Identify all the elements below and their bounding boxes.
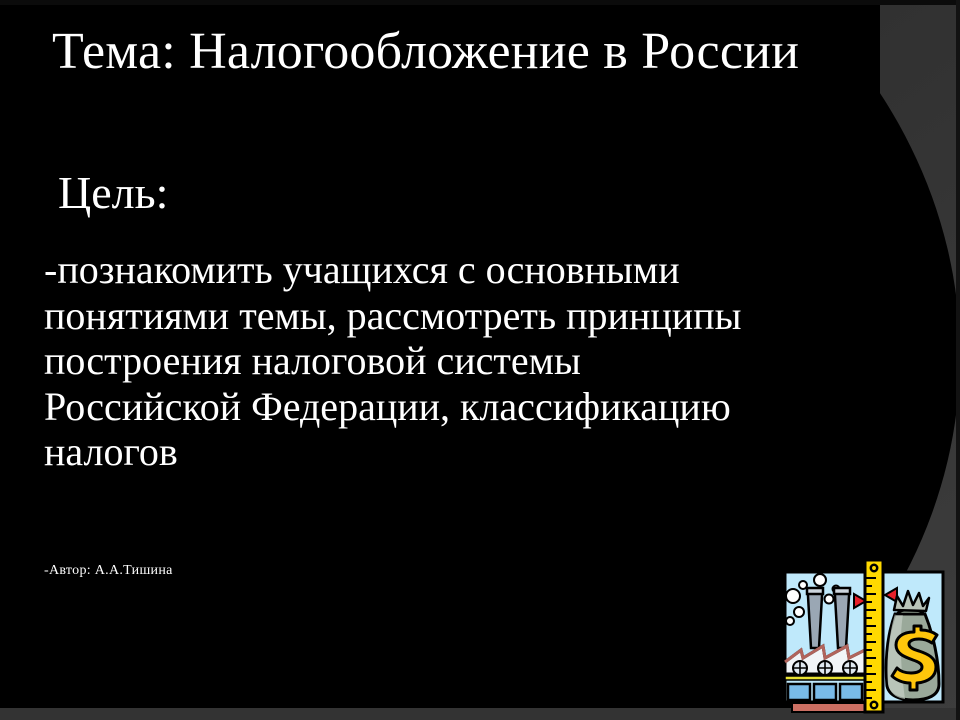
presentation-slide: Тема: Налогообложение в России Цель: -по… <box>0 0 960 720</box>
slide-subtitle-goal: Цель: <box>58 168 168 219</box>
slide-author-line: -Автор: А.А.Тишина <box>44 563 173 579</box>
slide-title: Тема: Налогообложение в России <box>52 18 842 87</box>
factory-panel <box>785 572 870 712</box>
rectangular-window <box>788 684 862 700</box>
money-panel <box>881 572 943 702</box>
smokestack-right <box>834 588 850 648</box>
clipart-base-strip <box>792 703 870 712</box>
slide-body-text: -познакомить учащихся с основными поняти… <box>44 247 744 475</box>
taxation-clipart <box>773 558 955 716</box>
measuring-ruler <box>865 560 883 712</box>
smokestack-left <box>807 588 823 648</box>
